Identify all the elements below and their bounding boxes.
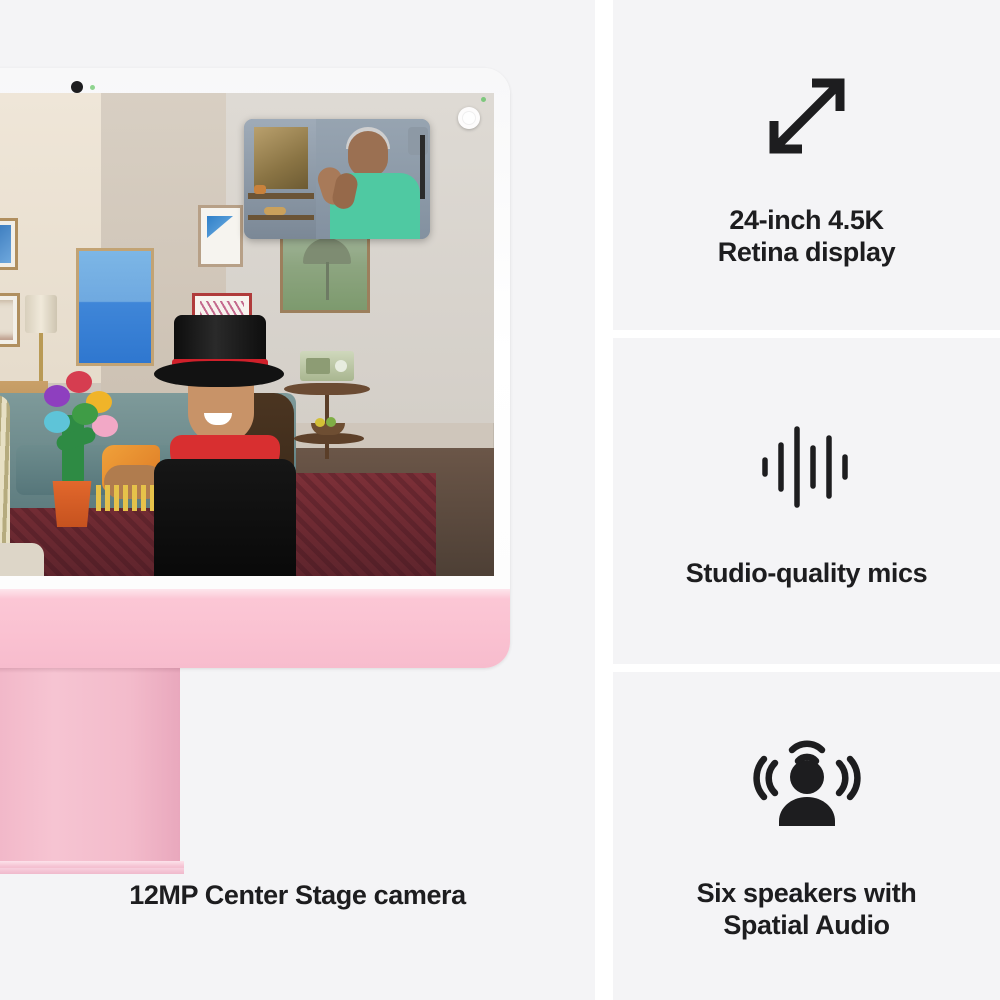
girl-face: [188, 379, 254, 443]
retro-radio: [300, 351, 354, 381]
imac-screen: [0, 93, 494, 576]
page-root: 12MP Center Stage camera 24-inch 4.5K Re…: [0, 0, 1000, 1000]
spatial-audio-person-icon: [748, 730, 866, 848]
diagonal-arrows-icon: [752, 61, 862, 171]
pip-background-left: [244, 119, 316, 239]
artwork-lamp-stem: [326, 262, 329, 300]
imac-device: [0, 68, 510, 808]
girl-black-cape: [154, 459, 296, 576]
fruit-green: [326, 417, 336, 427]
framed-art-large-blue: [76, 248, 154, 366]
imac-chin: [0, 589, 510, 668]
camera-indicator-led-icon: [90, 85, 95, 90]
feature-cards: 24-inch 4.5K Retina display: [595, 0, 1000, 1000]
imac-stand-base-lip: [0, 868, 184, 874]
girl-scarf-fringe: [96, 485, 160, 511]
flower-green: [72, 403, 98, 425]
framed-art-tall: [198, 205, 243, 267]
facetime-pip-window[interactable]: [244, 119, 430, 239]
fruit-yellow: [315, 418, 325, 427]
floor-lamp-shade: [25, 295, 57, 333]
camera-icon: [71, 81, 83, 93]
girl-hat-brim: [154, 361, 284, 387]
framed-art-small-blue: [0, 218, 18, 270]
side-table-top: [284, 383, 370, 395]
pip-background-right: [316, 119, 430, 239]
flower-pot: [50, 481, 94, 527]
flower-blue: [44, 411, 70, 433]
imac-body: [0, 68, 510, 668]
framed-art-small-beige: [0, 293, 20, 347]
feature-card-mics[interactable]: Studio-quality mics: [613, 338, 1000, 664]
woman-pants: [0, 543, 44, 576]
audio-waveform-icon: [752, 412, 862, 522]
imac-stand: [0, 668, 180, 866]
imac-feature-panel: 12MP Center Stage camera: [0, 0, 595, 1000]
flower-purple: [44, 385, 70, 407]
feature-card-mics-label: Studio-quality mics: [686, 558, 927, 590]
facetime-scene: [0, 93, 494, 576]
feature-card-display-label: 24-inch 4.5K Retina display: [718, 205, 895, 269]
flower-red: [66, 371, 92, 393]
feature-card-speakers-label: Six speakers with Spatial Audio: [697, 878, 917, 942]
camera-caption: 12MP Center Stage camera: [0, 880, 595, 911]
artwork-lamp-shape: [303, 238, 351, 264]
screen-recording-indicator-icon: [481, 97, 486, 102]
feature-card-speakers[interactable]: Six speakers with Spatial Audio: [613, 672, 1000, 1000]
facetime-control-button[interactable]: [458, 107, 480, 129]
feature-card-display[interactable]: 24-inch 4.5K Retina display: [613, 0, 1000, 330]
